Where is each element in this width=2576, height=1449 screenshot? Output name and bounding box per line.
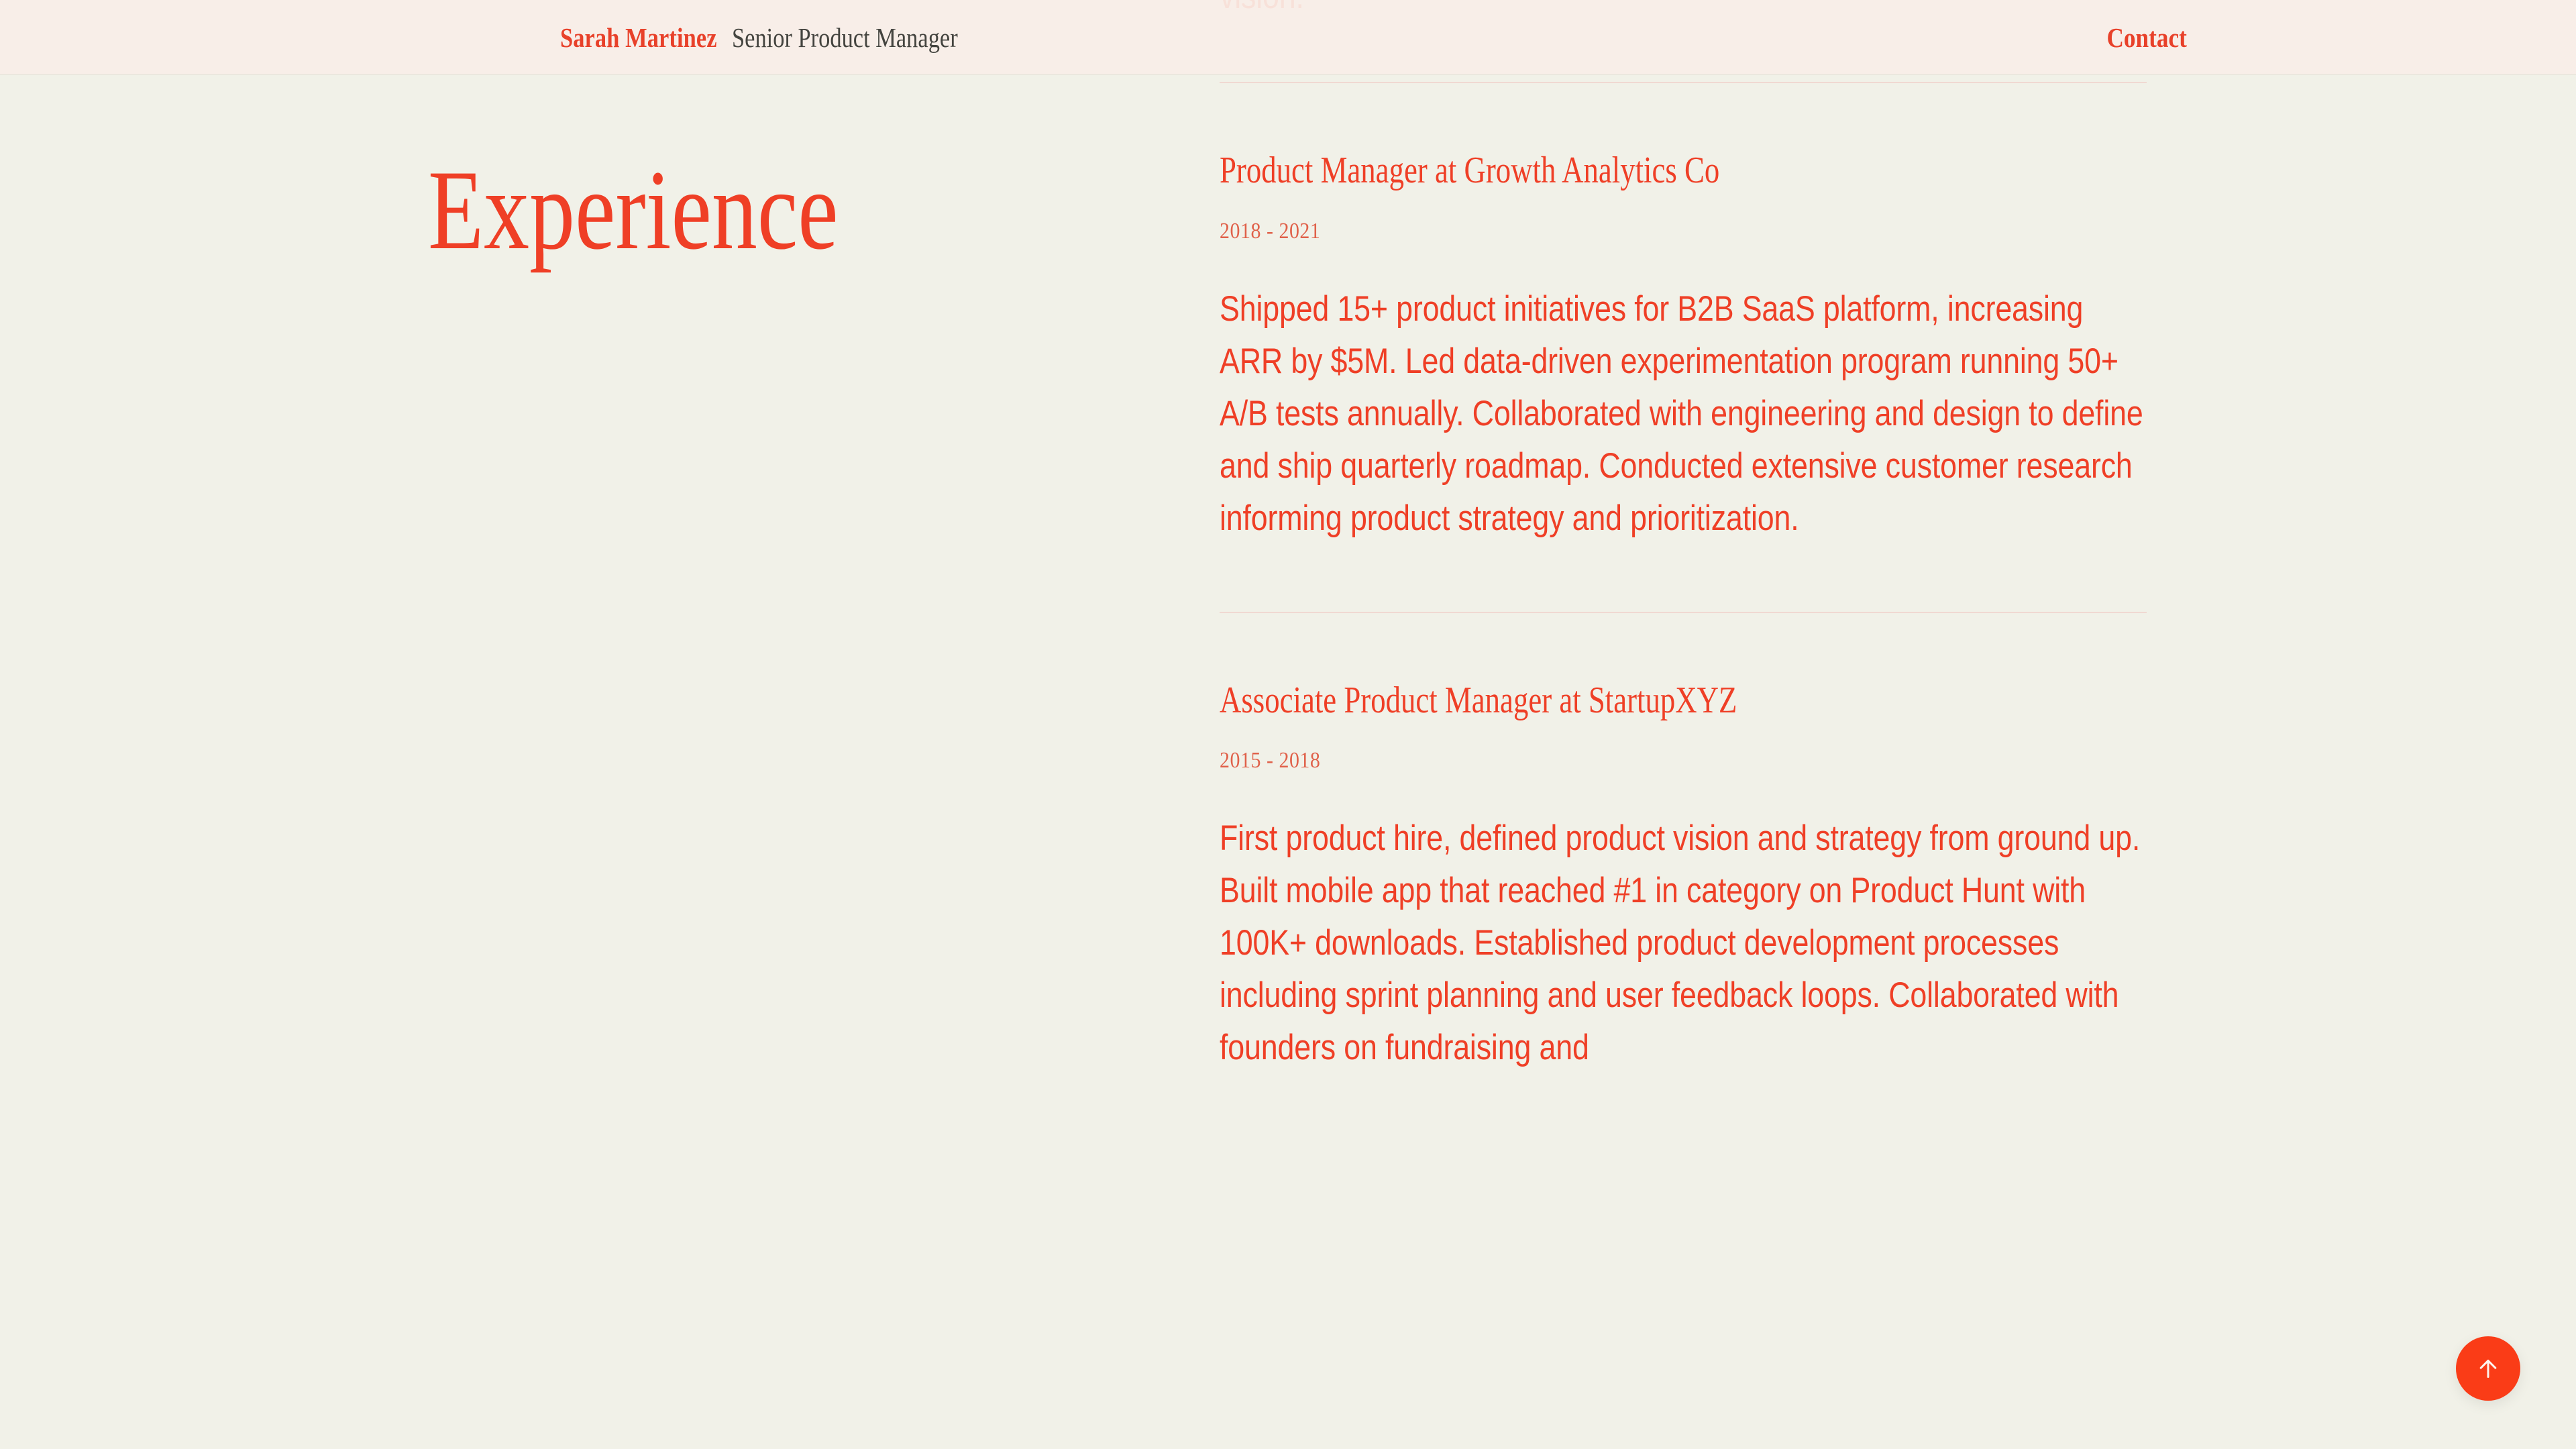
- experience-entry: Associate Product Manager at StartupXYZ …: [1220, 680, 2147, 1075]
- experience-entry: Product Manager at Growth Analytics Co 2…: [1220, 150, 2147, 545]
- brand-role: Senior Product Manager: [732, 21, 958, 54]
- entry-date-range: 2015 - 2018: [1220, 749, 2035, 772]
- site-header: Sarah Martinez Senior Product Manager Co…: [0, 0, 2576, 75]
- entry-job-title: Product Manager at Growth Analytics Co: [1220, 150, 1962, 192]
- page-title: Experience: [428, 153, 839, 267]
- entry-description: First product hire, defined product visi…: [1220, 812, 2147, 1074]
- brand[interactable]: Sarah Martinez Senior Product Manager: [560, 0, 1001, 75]
- entry-description: Shipped 15+ product initiatives for B2B …: [1220, 283, 2147, 545]
- brand-name[interactable]: Sarah Martinez: [560, 21, 717, 54]
- nav-link-contact[interactable]: Contact: [2107, 0, 2187, 75]
- arrow-up-icon: [2475, 1355, 2502, 1382]
- entry-job-title: Associate Product Manager at StartupXYZ: [1220, 680, 1962, 722]
- entry-date-range: 2018 - 2021: [1220, 220, 2035, 243]
- scroll-to-top-button[interactable]: [2456, 1336, 2520, 1401]
- experience-entry-list: security. Led a team of managers and eng…: [1220, 0, 2147, 1074]
